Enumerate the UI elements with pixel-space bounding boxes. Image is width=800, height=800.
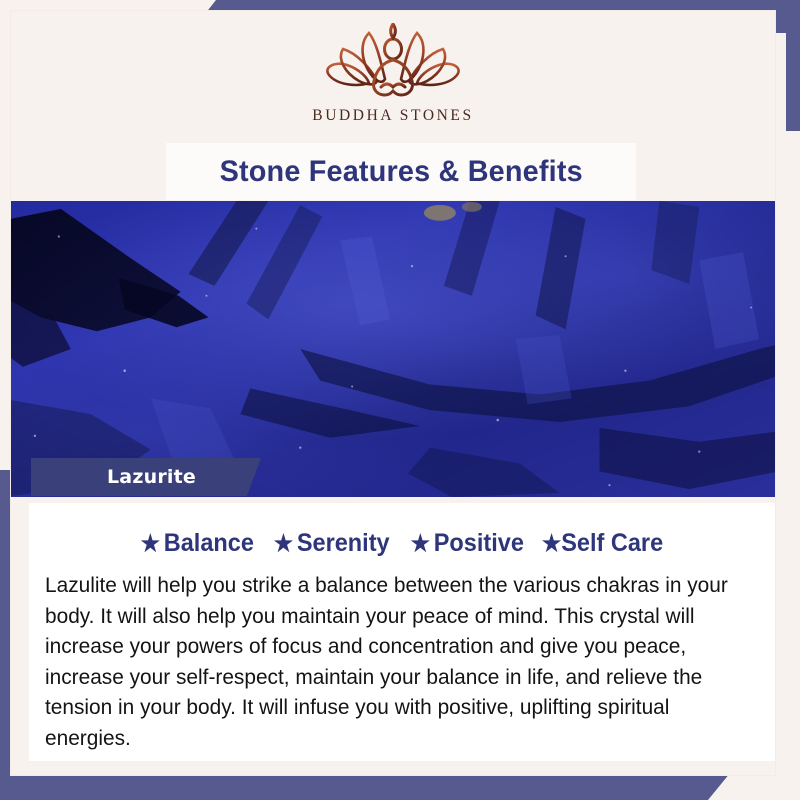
info-card: BUDDHA STONES Stone Features & Benefits [10,10,776,776]
benefit-label: Serenity [297,529,390,558]
brand-logo: BUDDHA STONES [11,23,775,125]
stone-description: Lazulite will help you strike a balance … [45,570,738,753]
stone-photo [10,201,776,497]
page-title: Stone Features & Benefits [219,155,582,189]
star-icon: ★ [274,532,293,555]
benefit-item-self-care: ★ Self Care [542,529,663,558]
star-icon: ★ [410,532,429,555]
title-banner: Stone Features & Benefits [166,143,636,200]
lazurite-texture [10,201,776,497]
benefit-label: Self Care [561,529,663,558]
benefits-row: ★ Balance ★ Serenity ★ Positive ★ Self C… [29,529,775,558]
benefit-label: Positive [433,529,523,558]
stone-name-tag: Lazurite [31,458,261,496]
benefit-item-balance: ★ Balance [140,529,253,558]
decorative-frame: BUDDHA STONES Stone Features & Benefits [0,0,800,800]
star-icon: ★ [140,532,159,555]
benefit-item-positive: ★ Positive [410,529,523,558]
benefit-item-serenity: ★ Serenity [274,529,390,558]
benefit-label: Balance [164,529,254,558]
stone-name: Lazurite [107,466,196,488]
content-panel: ★ Balance ★ Serenity ★ Positive ★ Self C… [29,503,775,761]
lotus-meditation-icon [319,23,467,103]
frame-band-right [786,0,800,131]
star-icon: ★ [542,532,561,555]
brand-wordmark: BUDDHA STONES [312,107,473,125]
